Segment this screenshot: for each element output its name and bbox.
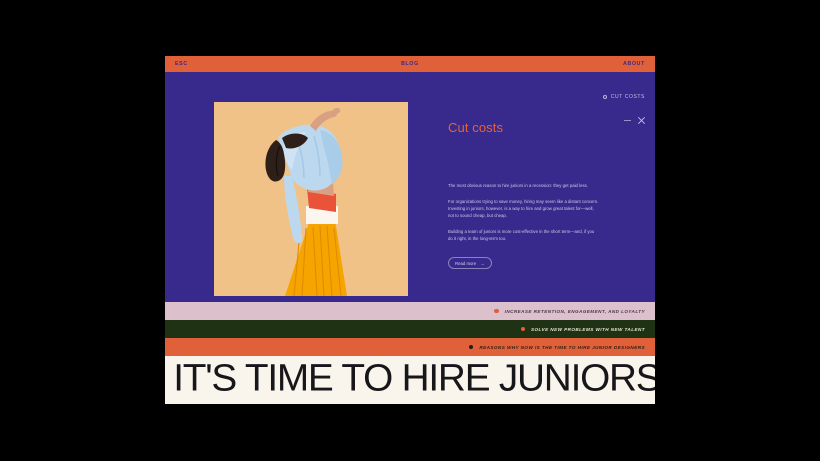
bullet-dot-icon [521, 327, 526, 332]
nav-esc-button[interactable]: ESC [175, 61, 188, 67]
headline-wrapper: IT'S TIME TO HIRE JUNIORS [178, 358, 655, 401]
close-icon[interactable] [637, 116, 646, 125]
callout-strip[interactable]: SOLVE NEW PROBLEMS WITH NEW TALENT [165, 320, 655, 338]
article-content: Cut costs The most obvious reason to hir… [448, 120, 608, 270]
article-paragraph: For organizations trying to save money, … [448, 199, 600, 220]
bullet-dot-icon [494, 309, 499, 314]
read-more-button[interactable]: Read more → [448, 257, 492, 269]
article-paragraph: The most obvious reason to hire juniors … [448, 183, 600, 190]
read-more-label: Read more [455, 261, 476, 266]
nav-about-link[interactable]: ABOUT [623, 61, 645, 67]
hero-section: CUT COSTS [165, 72, 655, 302]
callout-strip[interactable]: INCREASE RETENTION, ENGAGEMENT, AND LOYA… [165, 302, 655, 320]
hero-photo [214, 102, 408, 296]
callout-strip-label: SOLVE NEW PROBLEMS WITH NEW TALENT [531, 327, 645, 332]
minimize-icon[interactable] [624, 120, 631, 121]
headline-text: IT'S TIME TO HIRE JUNIORS [173, 358, 655, 401]
callout-strip[interactable]: REASONS WHY NOW IS THE TIME TO HIRE JUNI… [165, 338, 655, 356]
page-title: Cut costs [448, 120, 608, 135]
headline-band: IT'S TIME TO HIRE JUNIORS [165, 356, 655, 404]
circle-outline-icon [603, 95, 607, 99]
screen-canvas: ESC BLOG ABOUT CUT COSTS [0, 0, 820, 461]
article-paragraph: Building a team of juniors is more cost-… [448, 229, 600, 243]
top-navigation-bar: ESC BLOG ABOUT [165, 56, 655, 72]
callout-strip-label: INCREASE RETENTION, ENGAGEMENT, AND LOYA… [505, 309, 645, 314]
callout-strip-label: REASONS WHY NOW IS THE TIME TO HIRE JUNI… [479, 345, 645, 350]
nav-blog-link[interactable]: BLOG [401, 61, 419, 67]
arrow-right-icon: → [480, 261, 485, 266]
presentation-frame: ESC BLOG ABOUT CUT COSTS [165, 56, 655, 404]
breadcrumb-label: CUT COSTS [611, 94, 645, 100]
breadcrumb: CUT COSTS [603, 94, 645, 100]
window-controls [624, 116, 646, 125]
bullet-dot-icon [469, 345, 474, 350]
